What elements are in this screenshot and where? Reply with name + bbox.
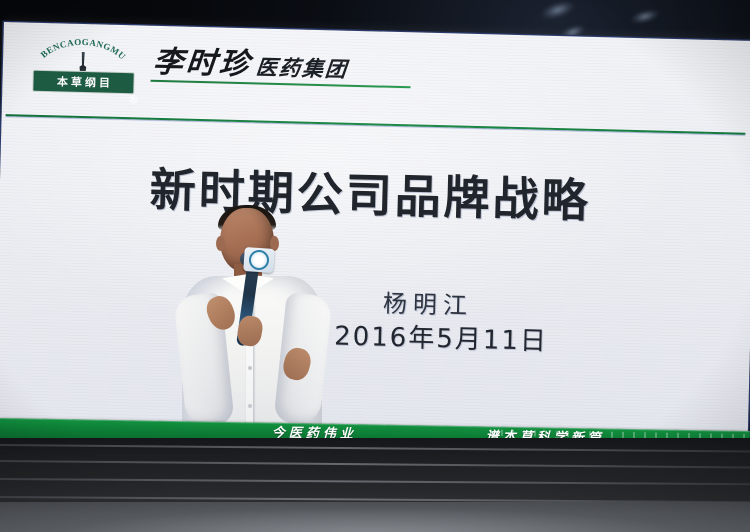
slide-surface: BENCAOGANGMU 本 草 纲 目 ® 李时珍 医药 bbox=[0, 22, 750, 461]
logo-char-2: 草 bbox=[71, 76, 82, 87]
stage-steps bbox=[0, 438, 750, 532]
speaker-ear-left bbox=[216, 236, 225, 251]
brand-name: 李时珍 bbox=[152, 48, 254, 80]
microphone-flag-badge bbox=[243, 247, 275, 273]
presenter-name: 杨明江 bbox=[383, 284, 474, 321]
registered-mark-icon: ® bbox=[128, 94, 139, 105]
step-edge bbox=[0, 478, 750, 485]
brand-lockup: 李时珍 医药集团 bbox=[153, 48, 349, 83]
company-logo: BENCAOGANGMU 本 草 纲 目 ® bbox=[30, 45, 135, 98]
step-edge bbox=[0, 444, 750, 453]
brand-descriptor: 医药集团 bbox=[255, 57, 349, 82]
speaker-shirt-button bbox=[248, 366, 252, 370]
projection-screen: BENCAOGANGMU 本 草 纲 目 ® 李时珍 医药 bbox=[0, 22, 750, 461]
microphone-flag-logo-icon bbox=[248, 249, 269, 270]
logo-char-1: 本 bbox=[57, 76, 68, 87]
logo-banner: 本 草 纲 目 ® bbox=[32, 70, 135, 95]
speaker-shirt-button bbox=[248, 404, 252, 408]
logo-char-3: 纲 bbox=[85, 77, 96, 88]
stage-photo: BENCAOGANGMU 本 草 纲 目 ® 李时珍 医药 bbox=[0, 0, 750, 532]
presentation-date: 2016年5月11日 bbox=[334, 315, 549, 357]
stage-floor bbox=[0, 502, 750, 532]
logo-char-4: 目 bbox=[99, 77, 110, 88]
step-edge bbox=[0, 460, 750, 469]
